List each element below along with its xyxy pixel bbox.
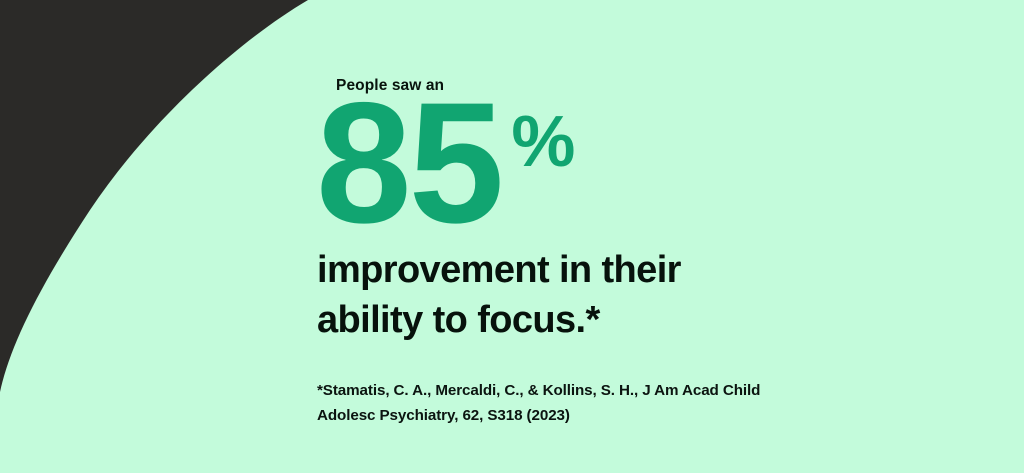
headline-line-2: ability to focus.* <box>317 296 681 346</box>
stat-figure: 85 % <box>316 96 575 230</box>
citation: *Stamatis, C. A., Mercaldi, C., & Kollin… <box>317 379 760 429</box>
stat-content: People saw an 85 % improvement in their … <box>0 0 1024 473</box>
headline: improvement in their ability to focus.* <box>317 246 681 346</box>
percent-symbol: % <box>511 106 575 178</box>
stat-banner: People saw an 85 % improvement in their … <box>0 0 1024 473</box>
stat-number: 85 <box>316 96 501 230</box>
citation-line-1: *Stamatis, C. A., Mercaldi, C., & Kollin… <box>317 379 760 404</box>
citation-line-2: Adolesc Psychiatry, 62, S318 (2023) <box>317 404 760 429</box>
headline-line-1: improvement in their <box>317 246 681 296</box>
